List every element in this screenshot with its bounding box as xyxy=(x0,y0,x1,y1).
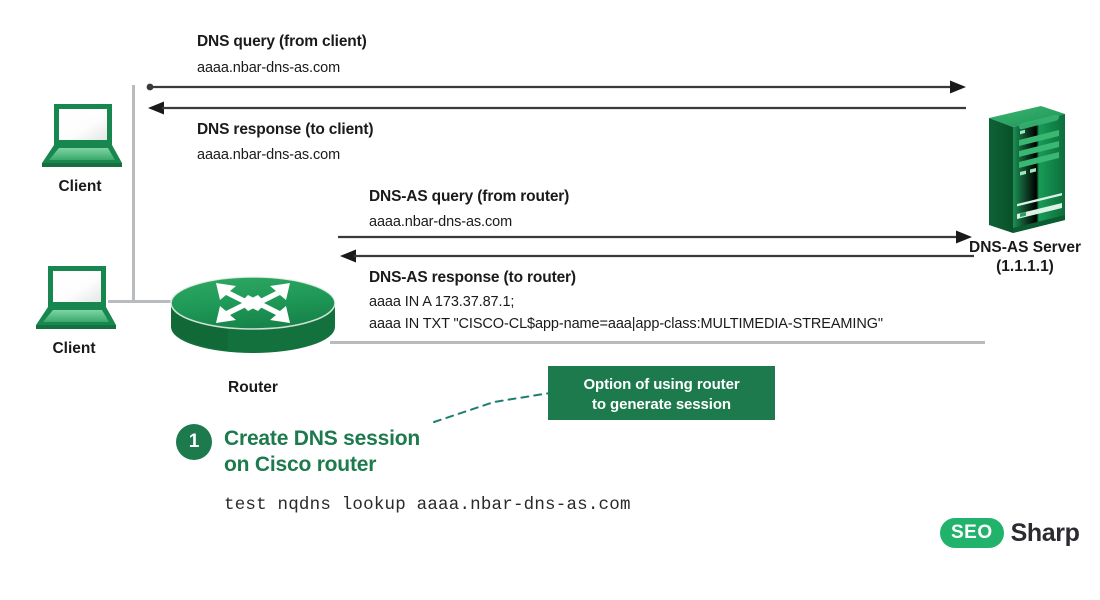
server-sublabel: (1.1.1.1) xyxy=(955,258,1095,276)
node-router: Router xyxy=(168,255,338,397)
step-number: 1 xyxy=(189,431,200,453)
seo-logo-mark: SEO xyxy=(940,518,1004,548)
dns-as-query-arrow xyxy=(336,228,976,246)
dns-response-detail: aaaa.nbar-dns-as.com xyxy=(197,147,340,163)
step-command: test nqdns lookup aaaa.nbar-dns-as.com xyxy=(224,495,631,515)
client-bottom-label: Client xyxy=(24,340,124,358)
router-icon xyxy=(168,255,338,367)
server-icon xyxy=(979,100,1071,235)
dns-query-title: DNS query (from client) xyxy=(197,33,367,51)
step-title-line-2: on Cisco router xyxy=(224,452,420,478)
laptop-icon xyxy=(28,262,120,334)
step-title-block: Create DNS session on Cisco router xyxy=(224,424,420,477)
dns-as-response-title: DNS-AS response (to router) xyxy=(369,269,576,287)
diagram-canvas: DNS query (from client) aaaa.nbar-dns-as… xyxy=(0,0,1100,600)
step-callout: 1 Create DNS session on Cisco router xyxy=(176,424,420,477)
callout-box: Option of using router to generate sessi… xyxy=(548,366,775,420)
seo-sharp-logo: SEO Sharp xyxy=(940,518,1079,548)
laptop-icon xyxy=(34,100,126,172)
dns-query-arrow xyxy=(144,78,972,96)
node-client-top: Client xyxy=(30,100,130,196)
callout-line-2: to generate session xyxy=(560,395,763,415)
seo-logo-text: SEO xyxy=(951,522,993,544)
sharp-logo-word: Sharp xyxy=(1011,519,1080,548)
client-bus-vertical xyxy=(132,85,135,302)
server-label: DNS-AS Server xyxy=(955,239,1095,257)
dns-as-response-arrow xyxy=(336,247,976,265)
callout-line-1: Option of using router xyxy=(560,375,763,395)
dns-response-arrow xyxy=(144,99,972,117)
callout-leader-line xyxy=(432,372,557,428)
router-right-link xyxy=(330,341,985,344)
dns-as-response-detail-1: aaaa IN A 173.37.87.1; xyxy=(369,294,514,310)
step-title-line-1: Create DNS session xyxy=(224,426,420,452)
step-number-badge: 1 xyxy=(176,424,212,460)
dns-as-query-title: DNS-AS query (from router) xyxy=(369,188,569,206)
node-client-bottom: Client xyxy=(24,262,124,358)
client-top-label: Client xyxy=(30,178,130,196)
dns-query-detail: aaaa.nbar-dns-as.com xyxy=(197,60,340,76)
dns-response-title: DNS response (to client) xyxy=(197,121,373,139)
node-server: DNS-AS Server (1.1.1.1) xyxy=(955,100,1095,276)
router-label: Router xyxy=(168,379,338,397)
dns-as-response-detail-2: aaaa IN TXT "CISCO-CL$app-name=aaa|app-c… xyxy=(369,316,883,332)
